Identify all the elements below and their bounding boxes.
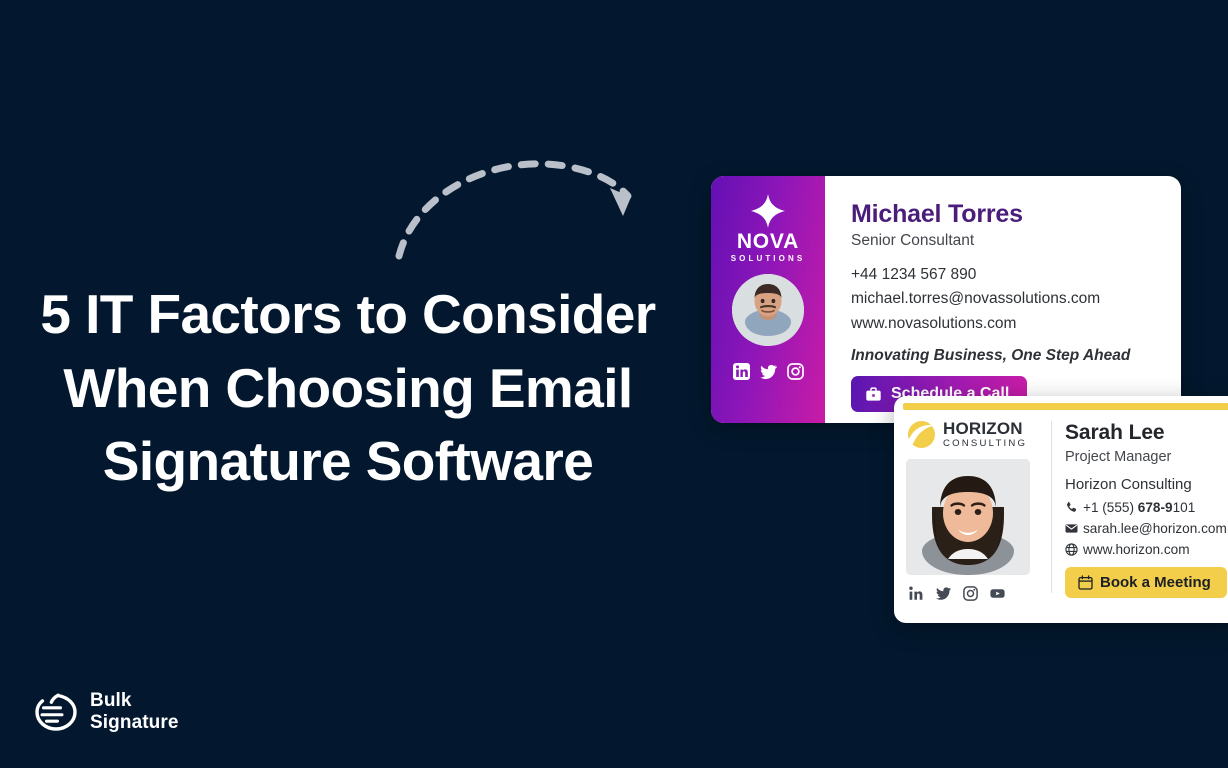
email-value: sarah.lee@horizon.com bbox=[1083, 521, 1227, 536]
horizon-logo-subtitle: CONSULTING bbox=[943, 439, 1027, 449]
signature-card-horizon: HORIZON CONSULTING bbox=[894, 396, 1228, 623]
phone-row: +1 (555) 678-9101 bbox=[1065, 500, 1228, 515]
briefcase-icon bbox=[865, 386, 882, 403]
website-row[interactable]: www.horizon.com bbox=[1065, 542, 1228, 557]
company-name: Horizon Consulting bbox=[1065, 476, 1228, 494]
email-value[interactable]: michael.torres@novassolutions.com bbox=[851, 288, 1181, 311]
brand-line-2: Signature bbox=[90, 712, 179, 734]
nova-logo: NOVA SOLUTIONS bbox=[731, 192, 806, 263]
linkedin-icon[interactable] bbox=[733, 363, 750, 380]
horizon-details: Sarah Lee Project Manager Horizon Consul… bbox=[1065, 419, 1228, 601]
signature-card-nova: NOVA SOLUTIONS bbox=[711, 176, 1181, 423]
horizon-logo: HORIZON CONSULTING bbox=[906, 419, 1027, 450]
contact-block: +44 1234 567 890 michael.torres@novassol… bbox=[851, 264, 1181, 336]
person-role: Senior Consultant bbox=[851, 232, 1181, 251]
phone-icon bbox=[1065, 501, 1078, 514]
headline-line-3: Signature Software bbox=[32, 425, 664, 499]
linkedin-icon[interactable] bbox=[909, 586, 924, 601]
headline-line-2: When Choosing Email bbox=[32, 352, 664, 426]
tagline: Innovating Business, One Step Ahead bbox=[851, 347, 1181, 366]
globe-icon bbox=[1065, 543, 1078, 556]
twitter-icon[interactable] bbox=[936, 586, 951, 601]
horizon-wordmark: HORIZON CONSULTING bbox=[943, 420, 1027, 449]
bulk-signature-mark-icon bbox=[31, 688, 79, 736]
website-value: www.horizon.com bbox=[1083, 542, 1190, 557]
nova-logo-name: NOVA bbox=[737, 231, 799, 252]
avatar bbox=[732, 274, 804, 346]
book-a-meeting-label: Book a Meeting bbox=[1100, 574, 1211, 591]
instagram-icon[interactable] bbox=[963, 586, 978, 601]
brand-line-1: Bulk bbox=[90, 690, 179, 712]
horizon-sun-swoosh-icon bbox=[906, 419, 937, 450]
instagram-icon[interactable] bbox=[787, 363, 804, 380]
email-row[interactable]: sarah.lee@horizon.com bbox=[1065, 521, 1228, 536]
horizon-social-links bbox=[906, 586, 1005, 601]
phone-value: +1 (555) 678-9101 bbox=[1083, 500, 1195, 515]
nova-accent-panel: NOVA SOLUTIONS bbox=[711, 176, 825, 423]
dashed-curved-arrow-icon bbox=[385, 140, 650, 260]
page-title: 5 IT Factors to Consider When Choosing E… bbox=[32, 278, 664, 499]
avatar bbox=[906, 459, 1030, 575]
horizon-body: HORIZON CONSULTING bbox=[894, 410, 1228, 601]
four-point-star-icon bbox=[749, 192, 787, 230]
horizon-left-column: HORIZON CONSULTING bbox=[906, 419, 1040, 601]
divider bbox=[1051, 421, 1052, 593]
nova-logo-subtitle: SOLUTIONS bbox=[731, 255, 806, 263]
youtube-icon[interactable] bbox=[990, 586, 1005, 601]
nova-details: Michael Torres Senior Consultant +44 123… bbox=[825, 176, 1181, 423]
phone-value: +44 1234 567 890 bbox=[851, 264, 1181, 287]
nova-social-links bbox=[733, 363, 804, 380]
horizon-logo-name: HORIZON bbox=[943, 420, 1027, 437]
accent-bar bbox=[903, 403, 1228, 410]
headline-line-1: 5 IT Factors to Consider bbox=[32, 278, 664, 352]
brand-logo: Bulk Signature bbox=[31, 688, 179, 736]
website-value[interactable]: www.novasolutions.com bbox=[851, 313, 1181, 336]
person-role: Project Manager bbox=[1065, 449, 1228, 466]
book-a-meeting-button[interactable]: Book a Meeting bbox=[1065, 567, 1227, 598]
envelope-icon bbox=[1065, 522, 1078, 535]
poster-canvas: 5 IT Factors to Consider When Choosing E… bbox=[0, 0, 1228, 768]
twitter-icon[interactable] bbox=[760, 363, 777, 380]
person-name: Michael Torres bbox=[851, 201, 1181, 227]
calendar-icon bbox=[1078, 575, 1093, 590]
brand-name: Bulk Signature bbox=[90, 690, 179, 734]
person-name: Sarah Lee bbox=[1065, 422, 1228, 444]
